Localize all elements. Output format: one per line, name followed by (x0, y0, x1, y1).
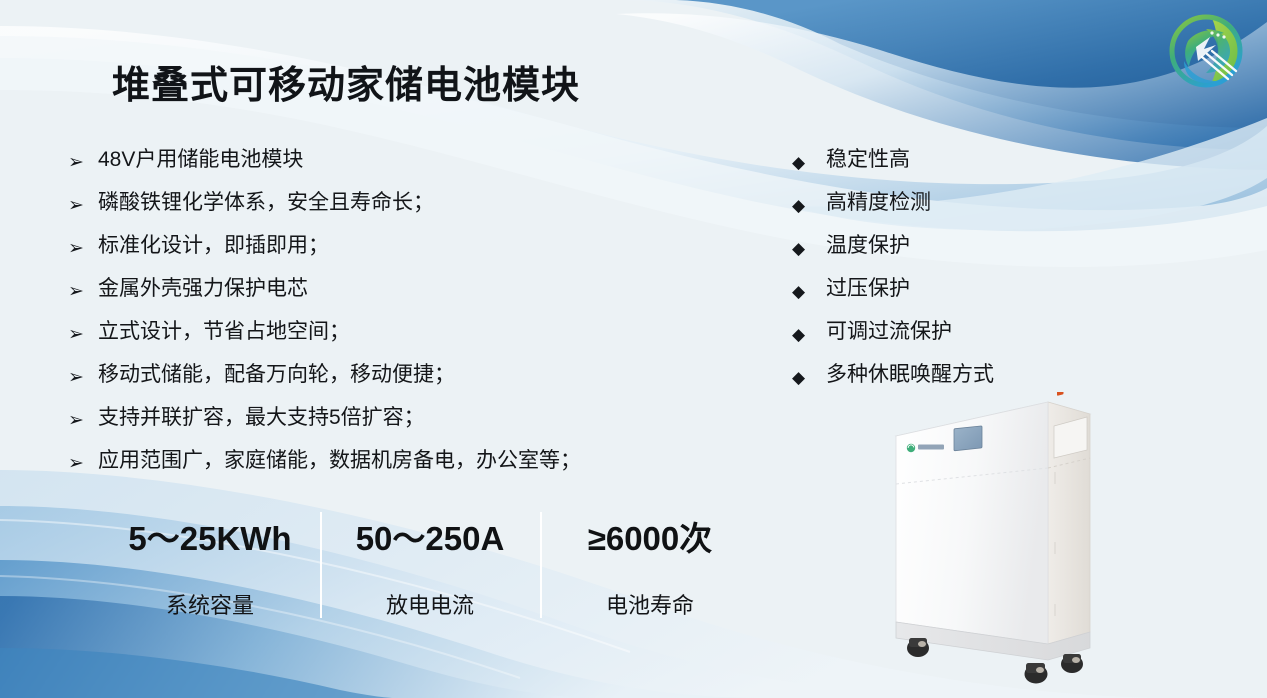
diamond-bullet-icon: ◆ (792, 277, 826, 300)
product-image-battery-cabinet (876, 392, 1112, 690)
list-item: ➢ 金属外壳强力保护电芯 (68, 277, 708, 320)
spec-summary-row: 5～25KWh 系统容量 50～250A 放电电流 ≥6000次 电池寿命 (100, 508, 760, 620)
list-item-label: 应用范围广，家庭储能，数据机房备电，办公室等； (98, 449, 581, 473)
arrow-bullet-icon: ➢ (68, 191, 98, 215)
spec-label: 电池寿命 (606, 588, 694, 620)
arrow-bullet-icon: ➢ (68, 148, 98, 172)
list-item-label: 48V户用储能电池模块 (98, 148, 303, 172)
spec-label: 放电电流 (386, 588, 474, 620)
list-item: ➢ 磷酸铁锂化学体系，安全且寿命长； (68, 191, 708, 234)
diamond-bullet-icon: ◆ (792, 148, 826, 171)
arrow-bullet-icon: ➢ (68, 320, 98, 344)
list-item-label: 标准化设计，即插即用； (98, 234, 329, 258)
list-item: ➢ 移动式储能，配备万向轮，移动便捷； (68, 363, 708, 406)
feature-list-right: ◆ 稳定性高 ◆ 高精度检测 ◆ 温度保护 ◆ 过压保护 ◆ 可调过流保护 ◆ … (792, 148, 1092, 406)
list-item-label: 磷酸铁锂化学体系，安全且寿命长； (98, 191, 434, 215)
list-item-label: 支持并联扩容，最大支持5倍扩容； (98, 406, 425, 430)
spec-value: 50～250A (356, 512, 505, 560)
spec-cycle-life: ≥6000次 电池寿命 (540, 508, 760, 620)
product-terminal-panel (1054, 392, 1087, 458)
page-title: 堆叠式可移动家储电池模块 (112, 54, 580, 109)
spec-label: 系统容量 (166, 588, 254, 620)
diamond-bullet-icon: ◆ (792, 234, 826, 257)
list-item-label: 高精度检测 (826, 191, 931, 215)
list-item: ◆ 高精度检测 (792, 191, 1092, 234)
list-item-label: 温度保护 (826, 234, 910, 258)
feature-list-left: ➢ 48V户用储能电池模块 ➢ 磷酸铁锂化学体系，安全且寿命长； ➢ 标准化设计… (68, 148, 708, 492)
arrow-bullet-icon: ➢ (68, 277, 98, 301)
list-item-label: 多种休眠唤醒方式 (826, 363, 994, 387)
list-item-label: 过压保护 (826, 277, 910, 301)
list-item: ◆ 温度保护 (792, 234, 1092, 277)
spec-capacity: 5～25KWh 系统容量 (100, 508, 320, 620)
list-item: ➢ 立式设计，节省占地空间； (68, 320, 708, 363)
list-item: ◆ 可调过流保护 (792, 320, 1092, 363)
diamond-bullet-icon: ◆ (792, 320, 826, 343)
diamond-bullet-icon: ◆ (792, 191, 826, 214)
list-item-label: 移动式储能，配备万向轮，移动便捷； (98, 363, 455, 387)
spec-value: ≥6000次 (588, 512, 713, 560)
list-item-label: 可调过流保护 (826, 320, 952, 344)
list-item: ➢ 支持并联扩容，最大支持5倍扩容； (68, 406, 708, 449)
spec-value: 5～25KWh (128, 512, 291, 560)
list-item-label: 立式设计，节省占地空间； (98, 320, 350, 344)
list-item: ◆ 过压保护 (792, 277, 1092, 320)
list-item: ➢ 48V户用储能电池模块 (68, 148, 708, 191)
arrow-bullet-icon: ➢ (68, 449, 98, 473)
spec-discharge-current: 50～250A 放电电流 (320, 508, 540, 620)
company-logo-icon (1166, 11, 1250, 91)
arrow-bullet-icon: ➢ (68, 363, 98, 387)
list-item-label: 稳定性高 (826, 148, 910, 172)
list-item: ➢ 应用范围广，家庭储能，数据机房备电，办公室等； (68, 449, 708, 492)
list-item: ◆ 稳定性高 (792, 148, 1092, 191)
diamond-bullet-icon: ◆ (792, 363, 826, 386)
arrow-bullet-icon: ➢ (68, 406, 98, 430)
slide-root: 堆叠式可移动家储电池模块 ➢ 48V户用储能电池模块 ➢ 磷酸铁锂化学体系，安全… (0, 0, 1267, 698)
list-item: ➢ 标准化设计，即插即用； (68, 234, 708, 277)
list-item-label: 金属外壳强力保护电芯 (98, 277, 308, 301)
arrow-bullet-icon: ➢ (68, 234, 98, 258)
